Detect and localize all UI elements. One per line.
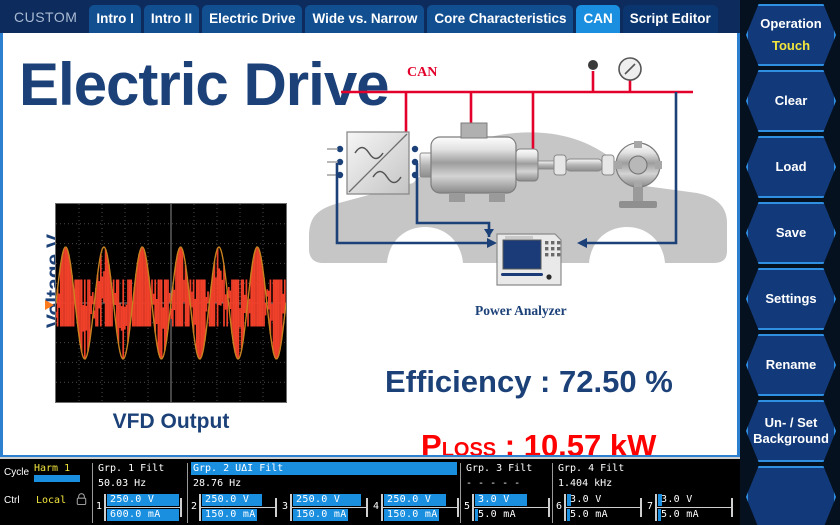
- softkey-save[interactable]: Save: [746, 202, 836, 264]
- channel-current-row: 150.0 mA: [384, 509, 456, 521]
- softkey-shape-icon: [746, 4, 836, 66]
- softkey-empty[interactable]: [746, 466, 836, 525]
- channel-rail: [657, 507, 732, 508]
- status-divider: [460, 463, 461, 523]
- current-value: 150.0 mA: [205, 509, 256, 520]
- content-panel: Electric Drive Voltage V: [0, 33, 740, 457]
- efficiency-value: 72.50 %: [559, 364, 673, 399]
- softkey-label-line2: Background: [753, 431, 829, 447]
- scope-plot[interactable]: [55, 203, 287, 403]
- tab-intro-i[interactable]: Intro I: [89, 5, 141, 33]
- power-loss-prefix: P: [421, 428, 442, 457]
- voltage-value: 3.0 V: [478, 494, 510, 505]
- efficiency-readout: Efficiency : 72.50 %: [385, 364, 673, 400]
- group-3[interactable]: Grp. 3 Filt - - - - -: [464, 462, 534, 489]
- channel-voltage-row: 3.0 V: [658, 494, 730, 506]
- power-loss-readout: PLOSS : 10.57 kW: [421, 428, 656, 457]
- group-4[interactable]: Grp. 4 Filt 1.404 kHz: [556, 462, 626, 489]
- inverter-icon: [347, 132, 409, 194]
- softkey-operation[interactable]: Operation Touch: [746, 4, 836, 66]
- cycle-label: Cycle: [4, 467, 29, 478]
- tab-script-editor[interactable]: Script Editor: [623, 5, 718, 33]
- group-1[interactable]: Grp. 1 Filt 50.03 Hz: [96, 462, 166, 489]
- channel-number: 2: [191, 501, 197, 512]
- current-value: 600.0 mA: [110, 509, 161, 520]
- voltage-value: 250.0 V: [296, 494, 340, 505]
- current-value: 150.0 mA: [387, 509, 438, 520]
- antenna-icon: [588, 60, 598, 70]
- channel-number: 4: [373, 501, 379, 512]
- current-value: 5.0 mA: [478, 509, 516, 520]
- tab-can[interactable]: CAN: [576, 5, 619, 33]
- group-frequency: 1.404 kHz: [556, 478, 626, 489]
- tab-core-characteristics[interactable]: Core Characteristics: [427, 5, 573, 33]
- softkey-label: Save: [776, 225, 806, 241]
- channel-rail: [474, 507, 549, 508]
- tab-bar: CUSTOM Intro I Intro II Electric Drive W…: [0, 0, 740, 33]
- status-divider: [552, 463, 553, 523]
- channel-voltage-row: 3.0 V: [567, 494, 639, 506]
- power-analyzer-icon: [497, 234, 561, 285]
- scope-caption: VFD Output: [55, 410, 287, 434]
- cycle-progress-bar: [34, 475, 80, 482]
- group-frequency: 50.03 Hz: [96, 478, 166, 489]
- group-header: Grp. 3 Filt: [464, 462, 534, 475]
- channel-current-row: 5.0 mA: [658, 509, 730, 521]
- softkey-load[interactable]: Load: [746, 136, 836, 198]
- soft-key-sidebar: Operation Touch Clear Load Save Settings…: [740, 0, 840, 525]
- channel-bracket-right: [180, 498, 182, 517]
- channel-voltage-row: 250.0 V: [202, 494, 274, 506]
- softkey-rename[interactable]: Rename: [746, 334, 836, 396]
- softkey-sublabel: Touch: [772, 38, 810, 54]
- trigger-marker-icon: [45, 300, 54, 310]
- group-2[interactable]: Grp. 2 UΔI Filt 28.76 Hz: [191, 462, 457, 489]
- channel-current-row: 5.0 mA: [475, 509, 547, 521]
- channel-number: 5: [464, 501, 470, 512]
- softkey-label: Clear: [775, 93, 808, 109]
- vehicle-diagram: CAN Power Analyzer: [293, 41, 738, 351]
- channel-bars-body: 250.0 V150.0 mA: [381, 493, 459, 523]
- channel-rail: [106, 507, 181, 508]
- channel-bracket-right: [548, 498, 550, 517]
- softkey-set-background[interactable]: Un- / Set Background: [746, 400, 836, 462]
- group-header: Grp. 4 Filt: [556, 462, 626, 475]
- channel-current-row: 5.0 mA: [567, 509, 639, 521]
- channel-bars-body: 250.0 V600.0 mA: [104, 493, 182, 523]
- group-header: Grp. 1 Filt: [96, 462, 166, 475]
- can-bus-label: CAN: [407, 65, 437, 81]
- channel-number: 3: [282, 501, 288, 512]
- channel-number: 6: [556, 501, 562, 512]
- softkey-settings[interactable]: Settings: [746, 268, 836, 330]
- channel-number: 1: [96, 501, 102, 512]
- softkey-label: Settings: [765, 291, 816, 307]
- softkey-label: Un- / Set: [765, 415, 818, 431]
- channel-bars-body: 250.0 V150.0 mA: [290, 493, 368, 523]
- tab-intro-ii[interactable]: Intro II: [144, 5, 199, 33]
- group-header: Grp. 2 UΔI Filt: [191, 462, 457, 475]
- channel-rail: [201, 507, 276, 508]
- channel-voltage-row: 250.0 V: [293, 494, 365, 506]
- softkey-label: Load: [775, 159, 806, 175]
- cycle-value[interactable]: Harm 1: [34, 463, 70, 474]
- channel-voltage-row: 250.0 V: [384, 494, 456, 506]
- channel-rail: [292, 507, 367, 508]
- channel-rail: [566, 507, 641, 508]
- status-bar: Cycle Harm 1 Ctrl Local Grp. 1 Filt 50.0…: [0, 457, 740, 525]
- ctrl-label: Ctrl: [4, 495, 20, 506]
- lock-icon: [76, 493, 87, 505]
- power-loss-value: 10.57 kW: [524, 428, 657, 457]
- channel-bars-body: 3.0 V5.0 mA: [472, 493, 550, 523]
- group-frequency: 28.76 Hz: [191, 478, 457, 489]
- channel-voltage-row: 250.0 V: [107, 494, 179, 506]
- current-value: 150.0 mA: [296, 509, 347, 520]
- custom-label: CUSTOM: [0, 9, 89, 33]
- voltage-value: 250.0 V: [205, 494, 249, 505]
- channel-bracket-right: [457, 498, 459, 517]
- channel-bars-body: 250.0 V150.0 mA: [199, 493, 277, 523]
- voltage-value: 250.0 V: [110, 494, 154, 505]
- power-loss-separator: :: [496, 428, 524, 457]
- channel-bars-body: 3.0 V5.0 mA: [564, 493, 642, 523]
- ctrl-value[interactable]: Local: [36, 495, 66, 506]
- current-value: 5.0 mA: [570, 509, 608, 520]
- channel-rail: [383, 507, 458, 508]
- channel-bracket-right: [731, 498, 733, 517]
- voltage-value: 3.0 V: [570, 494, 602, 505]
- softkey-clear[interactable]: Clear: [746, 70, 836, 132]
- channel-current-row: 150.0 mA: [293, 509, 365, 521]
- voltage-value: 3.0 V: [661, 494, 693, 505]
- channel-number: 7: [647, 501, 653, 512]
- status-divider: [92, 463, 93, 523]
- channel-current-row: 150.0 mA: [202, 509, 274, 521]
- voltage-value: 250.0 V: [387, 494, 431, 505]
- channel-bracket-right: [640, 498, 642, 517]
- tab-electric-drive[interactable]: Electric Drive: [202, 5, 302, 33]
- efficiency-label: Efficiency :: [385, 364, 559, 399]
- channel-bracket-right: [275, 498, 277, 517]
- application-window: CUSTOM Intro I Intro II Electric Drive W…: [0, 0, 840, 525]
- softkey-shape-icon: [746, 466, 836, 525]
- channel-bars-body: 3.0 V5.0 mA: [655, 493, 733, 523]
- tab-wide-vs-narrow[interactable]: Wide vs. Narrow: [305, 5, 424, 33]
- power-analyzer-label: Power Analyzer: [475, 303, 567, 319]
- softkey-label: Rename: [766, 357, 817, 373]
- status-divider: [187, 463, 188, 523]
- channel-voltage-row: 3.0 V: [475, 494, 547, 506]
- channel-bracket-right: [366, 498, 368, 517]
- channel-current-row: 600.0 mA: [107, 509, 179, 521]
- current-value: 5.0 mA: [661, 509, 699, 520]
- power-loss-subscript: LOSS: [442, 439, 496, 457]
- scope-svg: [56, 204, 286, 402]
- softkey-label: Operation: [760, 16, 821, 32]
- scope-widget: Voltage V: [17, 203, 295, 443]
- group-frequency: - - - - -: [464, 478, 534, 489]
